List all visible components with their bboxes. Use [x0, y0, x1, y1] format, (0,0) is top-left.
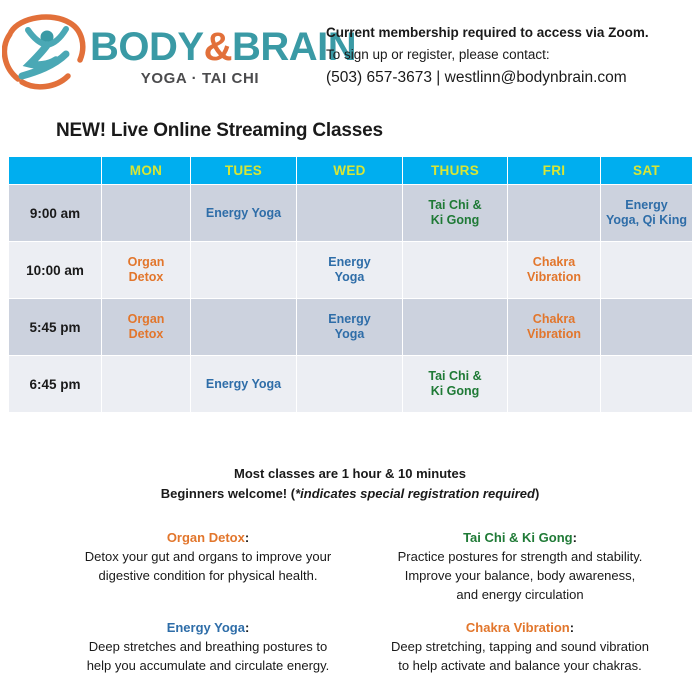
description-heading-text: Organ Detox — [167, 530, 245, 545]
empty-cell — [297, 356, 402, 412]
table-row: 10:00 amOrganDetoxEnergyYogaChakraVibrat… — [9, 242, 692, 298]
empty-cell — [297, 185, 402, 241]
column-header-thurs: THURS — [403, 157, 507, 184]
column-header-mon: MON — [102, 157, 190, 184]
class-cell[interactable]: ChakraVibration — [508, 299, 600, 355]
description-body-chakra-vibration: Deep stretching, tapping and sound vibra… — [355, 637, 685, 675]
description-energy-yoga: Energy Yoga: Deep stretches and breathin… — [43, 618, 373, 675]
description-heading-organ-detox: Organ Detox: — [43, 528, 373, 547]
time-label: 5:45 pm — [9, 299, 101, 355]
empty-cell — [601, 299, 692, 355]
empty-cell — [102, 185, 190, 241]
class-schedule-table: MON TUES WED THURS FRI SAT 9:00 amEnergy… — [8, 156, 693, 413]
description-body-energy-yoga: Deep stretches and breathing postures to… — [43, 637, 373, 675]
description-heading-energy-yoga: Energy Yoga: — [43, 618, 373, 637]
empty-cell — [191, 242, 296, 298]
class-cell[interactable]: Tai Chi &Ki Gong — [403, 185, 507, 241]
registration-asterisk-note: *indicates special registration required — [295, 486, 535, 501]
class-cell[interactable]: Energy Yoga — [191, 356, 296, 412]
description-chakra-vibration: Chakra Vibration: Deep stretching, tappi… — [355, 618, 685, 675]
column-header-wed: WED — [297, 157, 402, 184]
empty-cell — [102, 356, 190, 412]
description-tai-chi-ki-gong: Tai Chi & Ki Gong: Practice postures for… — [355, 528, 685, 604]
description-organ-detox: Organ Detox: Detox your gut and organs t… — [43, 528, 373, 585]
description-heading-text: Energy Yoga — [167, 620, 245, 635]
class-cell[interactable]: ChakraVibration — [508, 242, 600, 298]
class-duration-note: Most classes are 1 hour & 10 minutes — [0, 464, 700, 484]
empty-cell — [403, 242, 507, 298]
phone-and-email: (503) 657-3673 | westlinn@bodynbrain.com — [326, 66, 696, 90]
signup-instruction: To sign up or register, please contact: — [326, 44, 696, 66]
membership-notice: Current membership required to access vi… — [326, 22, 696, 44]
brand-word-body: BODY — [90, 25, 204, 69]
contact-block: Current membership required to access vi… — [326, 22, 696, 90]
empty-cell — [508, 356, 600, 412]
column-header-tues: TUES — [191, 157, 296, 184]
description-body-tai-chi-ki-gong: Practice postures for strength and stabi… — [355, 547, 685, 604]
empty-cell — [601, 242, 692, 298]
class-cell[interactable]: OrganDetox — [102, 299, 190, 355]
table-body: 9:00 amEnergy YogaTai Chi &Ki GongEnergy… — [9, 185, 692, 412]
class-cell[interactable]: OrganDetox — [102, 242, 190, 298]
page-title: NEW! Live Online Streaming Classes — [56, 120, 383, 142]
time-label: 6:45 pm — [9, 356, 101, 412]
table-row: 9:00 amEnergy YogaTai Chi &Ki GongEnergy… — [9, 185, 692, 241]
class-cell[interactable]: EnergyYoga — [297, 242, 402, 298]
column-header-sat: SAT — [601, 157, 692, 184]
page-header: BODY&BRAIN YOGA · TAI CHI Current member… — [0, 0, 700, 110]
brand-logo: BODY&BRAIN YOGA · TAI CHI — [2, 8, 312, 98]
column-header-time — [9, 157, 101, 184]
body-brain-figure-logo — [2, 14, 90, 94]
beginners-note-post: ) — [535, 486, 539, 501]
brand-ampersand: & — [204, 25, 232, 69]
brand-wordmark: BODY&BRAIN — [90, 26, 310, 68]
time-label: 10:00 am — [9, 242, 101, 298]
beginners-note-pre: Beginners welcome! ( — [161, 486, 295, 501]
empty-cell — [508, 185, 600, 241]
description-heading-chakra-vibration: Chakra Vibration: — [355, 618, 685, 637]
time-label: 9:00 am — [9, 185, 101, 241]
empty-cell — [403, 299, 507, 355]
description-body-organ-detox: Detox your gut and organs to improve you… — [43, 547, 373, 585]
description-heading-tai-chi-ki-gong: Tai Chi & Ki Gong: — [355, 528, 685, 547]
empty-cell — [601, 356, 692, 412]
table-header-row: MON TUES WED THURS FRI SAT — [9, 157, 692, 184]
brand-tagline: YOGA · TAI CHI — [90, 70, 310, 87]
empty-cell — [191, 299, 296, 355]
class-cell[interactable]: EnergyYoga — [297, 299, 402, 355]
column-header-fri: FRI — [508, 157, 600, 184]
class-cell[interactable]: Energy Yoga — [191, 185, 296, 241]
table-row: 5:45 pmOrganDetoxEnergyYogaChakraVibrati… — [9, 299, 692, 355]
class-cell[interactable]: EnergyYoga, Qi King — [601, 185, 692, 241]
class-schedule-flyer: BODY&BRAIN YOGA · TAI CHI Current member… — [0, 0, 700, 700]
schedule-notes: Most classes are 1 hour & 10 minutes Beg… — [0, 464, 700, 504]
class-descriptions: Organ Detox: Detox your gut and organs t… — [0, 528, 700, 688]
beginners-note: Beginners welcome! (*indicates special r… — [0, 484, 700, 504]
description-heading-text: Tai Chi & Ki Gong — [463, 530, 573, 545]
description-heading-text: Chakra Vibration — [466, 620, 570, 635]
class-cell[interactable]: Tai Chi &Ki Gong — [403, 356, 507, 412]
table-row: 6:45 pmEnergy YogaTai Chi &Ki Gong — [9, 356, 692, 412]
